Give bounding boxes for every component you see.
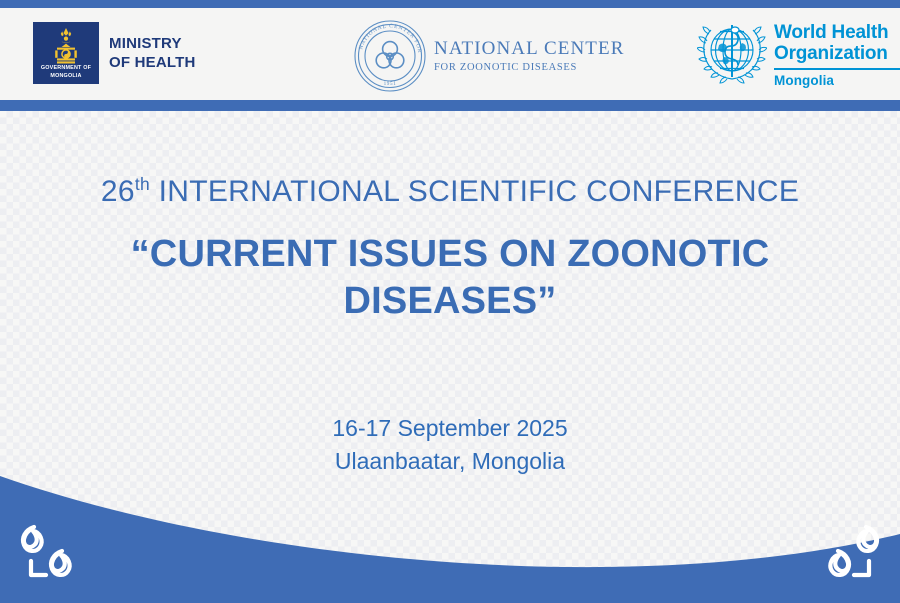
title-block: 26th INTERNATIONAL SCIENTIFIC CONFERENCE… — [0, 175, 900, 326]
ulzii-knot-ornament-left — [16, 521, 88, 581]
conference-heading-text: INTERNATIONAL SCIENTIFIC CONFERENCE — [150, 175, 799, 208]
header-divider-bar — [0, 100, 900, 111]
national-center-name-line1: NATIONAL CENTER — [434, 38, 624, 59]
national-center-name: NATIONAL CENTER FOR ZOONOTIC DISEASES — [434, 38, 624, 73]
ministry-name-line1: MINISTRY — [109, 34, 196, 54]
emblem-caption: GOVERNMENT OF MONGOLIA — [33, 65, 99, 81]
conference-title-slide: GOVERNMENT OF MONGOLIA MINISTRY OF HEALT… — [0, 0, 900, 603]
event-dates: 16-17 September 2025 — [0, 412, 900, 445]
who-country-label: Mongolia — [774, 73, 900, 88]
emblem-caption-line1: GOVERNMENT OF — [33, 65, 99, 73]
who-underline-rule — [774, 68, 900, 70]
wave-front-shape — [0, 476, 900, 603]
mongolian-knot-icon — [16, 521, 88, 581]
conference-ordinal-suffix: th — [135, 174, 150, 194]
top-accent-bar — [0, 0, 900, 8]
national-center-zoonotic-diseases-logo: NATIONAL CENTER FOR ZOONOTIC DISEASES 19… — [352, 18, 624, 94]
ministry-of-health-logo: GOVERNMENT OF MONGOLIA MINISTRY OF HEALT… — [33, 22, 196, 84]
ministry-name-line2: OF HEALTH — [109, 53, 196, 73]
mongolia-government-emblem: GOVERNMENT OF MONGOLIA — [33, 22, 99, 84]
footer-wave-decoration — [0, 468, 900, 603]
who-mongolia-logo: World Health Organization Mongolia — [697, 19, 900, 88]
who-wordmark: World Health Organization Mongolia — [774, 19, 900, 88]
who-name-line1: World Health — [774, 23, 900, 44]
zoonotic-seal-icon: NATIONAL CENTER FOR ZOONOTIC DISEASES 19… — [352, 18, 428, 94]
conference-theme-title: “CURRENT ISSUES ON ZOONOTIC DISEASES” — [0, 231, 900, 326]
svg-text:NATIONAL CENTER FOR ZOONOTIC D: NATIONAL CENTER FOR ZOONOTIC DISEASES — [352, 18, 423, 56]
national-center-name-line2: FOR ZOONOTIC DISEASES — [434, 62, 624, 74]
who-emblem-icon — [697, 19, 767, 85]
soyombo-icon — [33, 25, 99, 71]
who-name-line2: Organization — [774, 44, 900, 65]
ulzii-knot-ornament-right — [812, 521, 884, 581]
conference-number: 26 — [101, 175, 135, 208]
ministry-of-health-name: MINISTRY OF HEALTH — [109, 34, 196, 73]
svg-text:1951: 1951 — [384, 81, 397, 87]
mongolian-knot-icon — [812, 521, 884, 581]
emblem-caption-line2: MONGOLIA — [33, 73, 99, 81]
conference-heading: 26th INTERNATIONAL SCIENTIFIC CONFERENCE — [0, 175, 900, 209]
